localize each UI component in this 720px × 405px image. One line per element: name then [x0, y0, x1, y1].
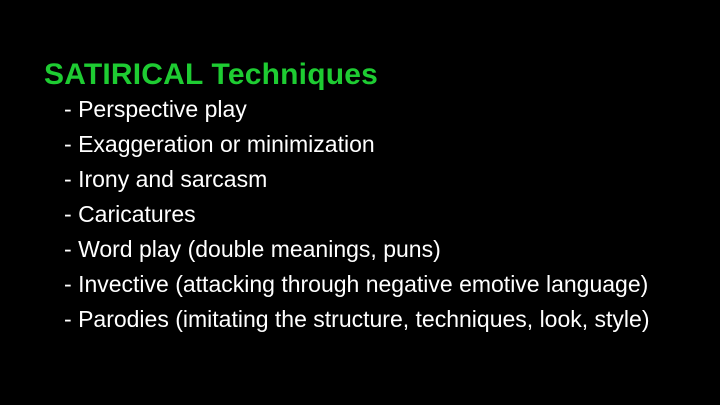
bullet-dash-icon: -: [64, 201, 72, 227]
list-item-label: Irony and sarcasm: [78, 166, 267, 192]
list-item: - Parodies (imitating the structure, tec…: [64, 302, 704, 337]
bullet-list: - Perspective play - Exaggeration or min…: [64, 92, 704, 337]
list-item-label: Caricatures: [78, 201, 196, 227]
list-item: - Caricatures: [64, 197, 704, 232]
list-item-label: Word play (double meanings, puns): [78, 236, 441, 262]
list-item: - Word play (double meanings, puns): [64, 232, 704, 267]
bullet-dash-icon: -: [64, 306, 72, 332]
list-item-label: Invective (attacking through negative em…: [78, 271, 648, 297]
bullet-dash-icon: -: [64, 236, 72, 262]
bullet-dash-icon: -: [64, 271, 72, 297]
list-item: - Irony and sarcasm: [64, 162, 704, 197]
bullet-dash-icon: -: [64, 166, 72, 192]
list-item: - Invective (attacking through negative …: [64, 267, 704, 302]
list-item-label: Exaggeration or minimization: [78, 131, 375, 157]
page-title: SATIRICAL Techniques: [44, 56, 378, 94]
list-item-label: Perspective play: [78, 96, 247, 122]
bullet-dash-icon: -: [64, 96, 72, 122]
presentation-slide: SATIRICAL Techniques - Perspective play …: [0, 0, 720, 405]
list-item: - Exaggeration or minimization: [64, 127, 704, 162]
bullet-dash-icon: -: [64, 131, 72, 157]
list-item: - Perspective play: [64, 92, 704, 127]
list-item-label: Parodies (imitating the structure, techn…: [78, 306, 649, 332]
